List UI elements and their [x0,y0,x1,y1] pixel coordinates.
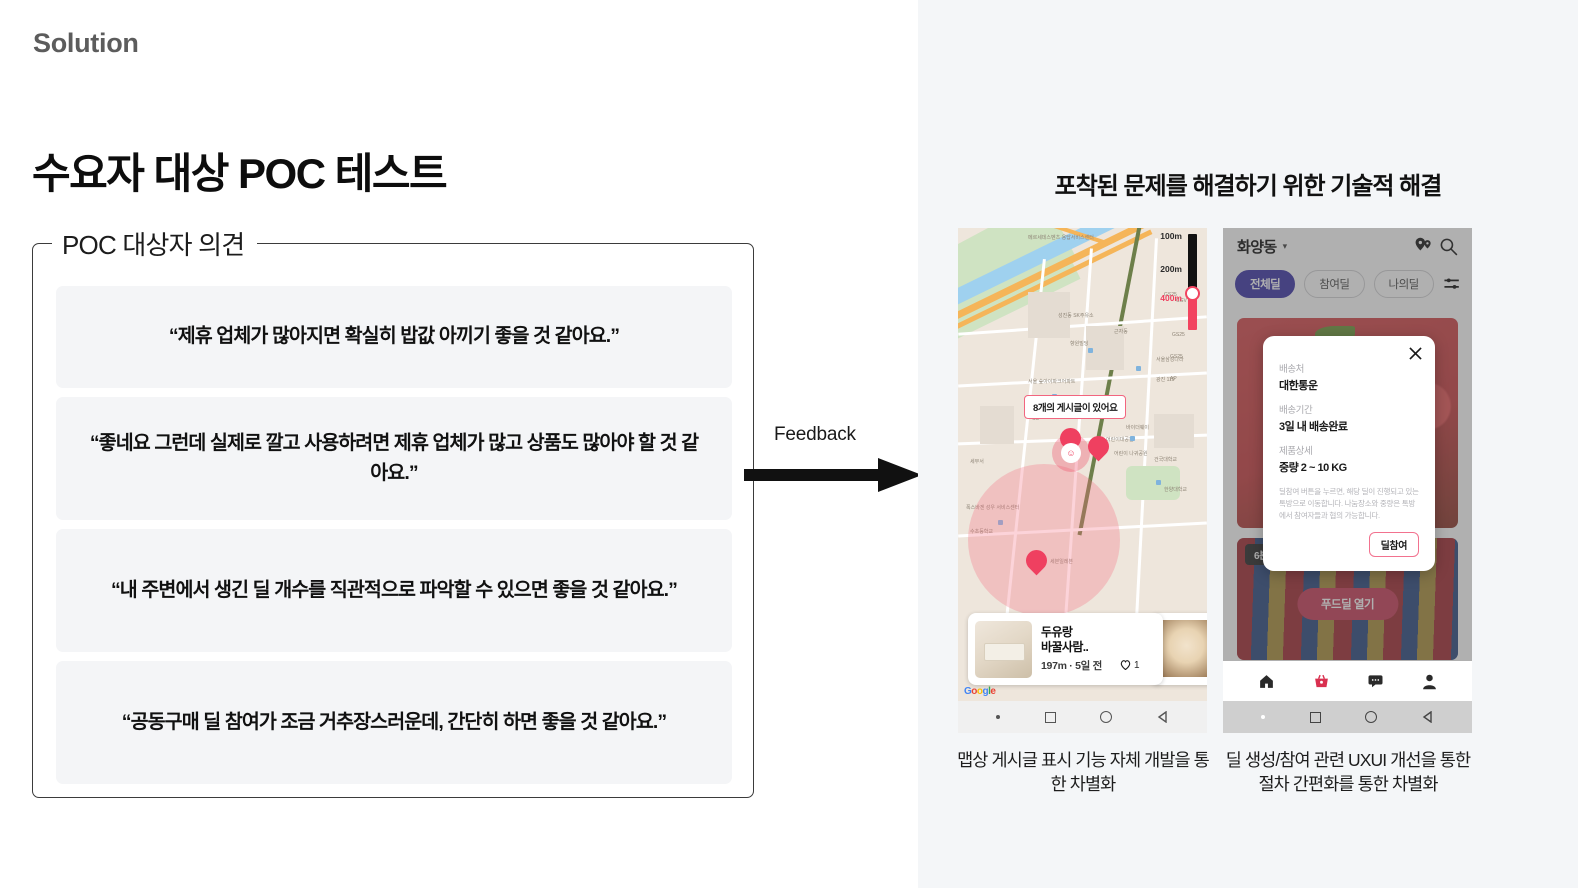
arrow-right-icon [744,457,924,493]
map-pin-icon[interactable] [1414,237,1433,256]
profile-icon[interactable] [1422,673,1437,690]
google-attribution: Google [964,686,995,697]
poc-box-legend: POC 대상자 의견 [52,225,257,262]
zoom-slider-handle[interactable] [1185,286,1200,301]
map-poi-label: 세무서 [970,458,984,465]
list-item: “제휴 업체가 많아지면 확실히 밥값 아끼기 좋을 것 같아요.” [56,286,732,388]
modal-field-value: 중량 2 ~ 10 KG [1279,459,1419,475]
list-item: “내 주변에서 생긴 딜 개수를 직관적으로 파악할 수 있으면 좋을 것 같아… [56,529,732,652]
feedback-connector: Feedback [744,424,924,494]
map-poi-label: 향원빌딩 [1070,340,1088,347]
deal-app-canvas: 화양동 ▾ [1223,228,1472,733]
map-road [1133,238,1158,658]
map-block [1154,414,1194,448]
zoom-label-100m: 100m [1160,231,1182,241]
map-phone-caption: 맵상 게시글 표시 기능 자체 개발을 통한 차별화 [953,748,1213,796]
post-thumbnail [975,621,1032,678]
post-meta: 197m · 5일 전 1 [1041,658,1156,673]
like-count-text: 1 [1134,660,1140,671]
recents-square-icon[interactable] [1045,712,1056,723]
map-poi-marker [1136,366,1141,371]
post-title-line1: 두유랑 [1041,625,1156,639]
map-poi-label: GS25 [1172,332,1185,338]
sliders-icon[interactable] [1443,277,1460,291]
list-item: “좋네요 그런데 실제로 깔고 사용하려면 제휴 업체가 많고 상품도 많아야 … [56,397,732,520]
deal-filter-tabs: 전체딜 참여딜 나의딜 [1223,264,1472,304]
map-park-area [1126,466,1180,500]
map-search-radius [968,464,1120,616]
basket-icon[interactable] [1313,673,1330,690]
post-like-count[interactable]: 1 [1120,660,1140,671]
tab-all-deals[interactable]: 전체딜 [1235,270,1295,298]
map-poi-label: 근자동 [1114,328,1128,335]
home-circle-icon[interactable] [1100,711,1112,723]
modal-action-row: 딜참여 [1279,532,1419,557]
deal-topbar: 화양동 ▾ [1223,228,1472,264]
deal-phone-mockup: 화양동 ▾ [1223,228,1472,733]
slide-root: Solution 수요자 대상 POC 테스트 POC 대상자 의견 “제휴 업… [0,0,1578,888]
map-poi-marker [1130,436,1135,441]
map-block [980,406,1014,444]
map-post-pin[interactable] [1088,436,1109,464]
recents-dot-icon[interactable] [1261,715,1265,719]
android-system-nav [1223,701,1472,733]
left-panel: Solution 수요자 대상 POC 테스트 POC 대상자 의견 “제휴 업… [0,0,918,888]
close-icon[interactable] [1409,347,1422,360]
join-deal-button[interactable]: 딜참여 [1369,532,1419,557]
modal-field-value: 대한통운 [1279,377,1419,393]
location-selector-label[interactable]: 화양동 [1237,236,1277,257]
map-canvas[interactable]: 메르세데스벤츠 용답서비스센터 성진동 SK주유소 향원빌딩 서울 숲아이파크어… [958,228,1207,733]
map-poi-label: 서울 숲아이파크어파트 [1028,378,1075,385]
post-title-line2: 바꿀사람.. [1041,640,1156,654]
post-meta-text: 197m · 5일 전 [1041,658,1102,673]
chat-icon[interactable] [1367,674,1384,688]
deal-detail-modal: 배송처 대한통운 배송기간 3일 내 배송완료 제품상세 중량 2 ~ 10 K… [1263,336,1435,571]
map-poi-label: 성진동 SK주유소 [1058,312,1094,319]
back-triangle-icon[interactable] [1157,711,1169,723]
home-icon[interactable] [1258,673,1275,690]
heart-icon [1120,660,1131,670]
feedback-label: Feedback [774,424,856,446]
map-poi-label: 어린이 나귀공원 [1114,450,1148,457]
map-poi-label: 메르세데스벤츠 용답서비스센터 [1028,234,1094,241]
map-post-pin[interactable] [1026,550,1047,578]
android-system-nav [958,701,1207,733]
post-card-body: 두유랑 바꿀사람.. 197m · 5일 전 [1041,625,1156,672]
map-post-card[interactable]: 두유랑 바꿀사람.. 197m · 5일 전 [968,613,1163,685]
deal-bottom-nav [1223,661,1472,701]
right-panel: 포착된 문제를 해결하기 위한 기술적 해결 [918,0,1578,888]
post-thumbnail [1158,620,1207,677]
section-eyebrow: Solution [33,28,139,59]
map-poi-label: 한양대학교 [1164,486,1187,493]
zoom-track-lower [1188,296,1197,330]
map-poi-label: 서울삼성나라 [1156,356,1184,363]
modal-field-value: 3일 내 배송완료 [1279,418,1419,434]
right-panel-title: 포착된 문제를 해결하기 위한 기술적 해결 [918,166,1578,201]
modal-note-text: 딜참여 버튼을 누르면, 해당 딜이 진행되고 있는 톡방으로 이동합니다. 나… [1279,486,1419,521]
deal-app-header: 화양동 ▾ [1223,228,1472,310]
list-item: “공동구매 딜 참여가 조금 거추장스러운데, 간단히 하면 좋을 것 같아요.… [56,661,732,784]
search-icon[interactable] [1439,237,1458,256]
recents-square-icon[interactable] [1310,712,1321,723]
deal-phone-caption: 딜 생성/참여 관련 UXUI 개선을 통한 절차 간편화를 통한 차별화 [1218,748,1478,796]
modal-field-label: 제품상세 [1279,443,1419,457]
zoom-label-400m: 400m [1160,293,1182,303]
map-phone-mockup: 메르세데스벤츠 용답서비스센터 성진동 SK주유소 향원빌딩 서울 숲아이파크어… [958,228,1207,733]
recents-dot-icon[interactable] [996,715,1000,719]
page-title: 수요자 대상 POC 테스트 [32,140,446,201]
modal-field-label: 배송처 [1279,361,1419,375]
zoom-track-upper [1188,234,1197,291]
map-post-count-bubble[interactable]: 8개의 게시글이 있어요 [1024,395,1126,419]
open-food-deal-button[interactable]: 푸드딜 열기 [1297,588,1398,620]
map-poi-label: 바이더웨이 [1126,424,1149,431]
home-circle-icon[interactable] [1365,711,1377,723]
quote-list: “제휴 업체가 많아지면 확실히 밥값 아끼기 좋을 것 같아요.” “좋네요 … [56,286,732,793]
map-cluster-face: ☺ [1061,443,1081,463]
map-poi-marker [1088,348,1093,353]
map-poi-label: AP [1170,376,1177,382]
chevron-down-icon[interactable]: ▾ [1283,241,1288,252]
zoom-label-200m: 200m [1160,264,1182,274]
map-poi-label: 건국대학교 [1154,456,1177,463]
tab-joined-deals[interactable]: 참여딜 [1304,270,1364,298]
tab-my-deals[interactable]: 나의딜 [1374,270,1434,298]
map-poi-marker [1156,480,1161,485]
modal-field-label: 배송기간 [1279,402,1419,416]
map-zoom-slider[interactable]: 100m 200m 400m [1185,230,1198,335]
back-triangle-icon[interactable] [1422,711,1434,723]
